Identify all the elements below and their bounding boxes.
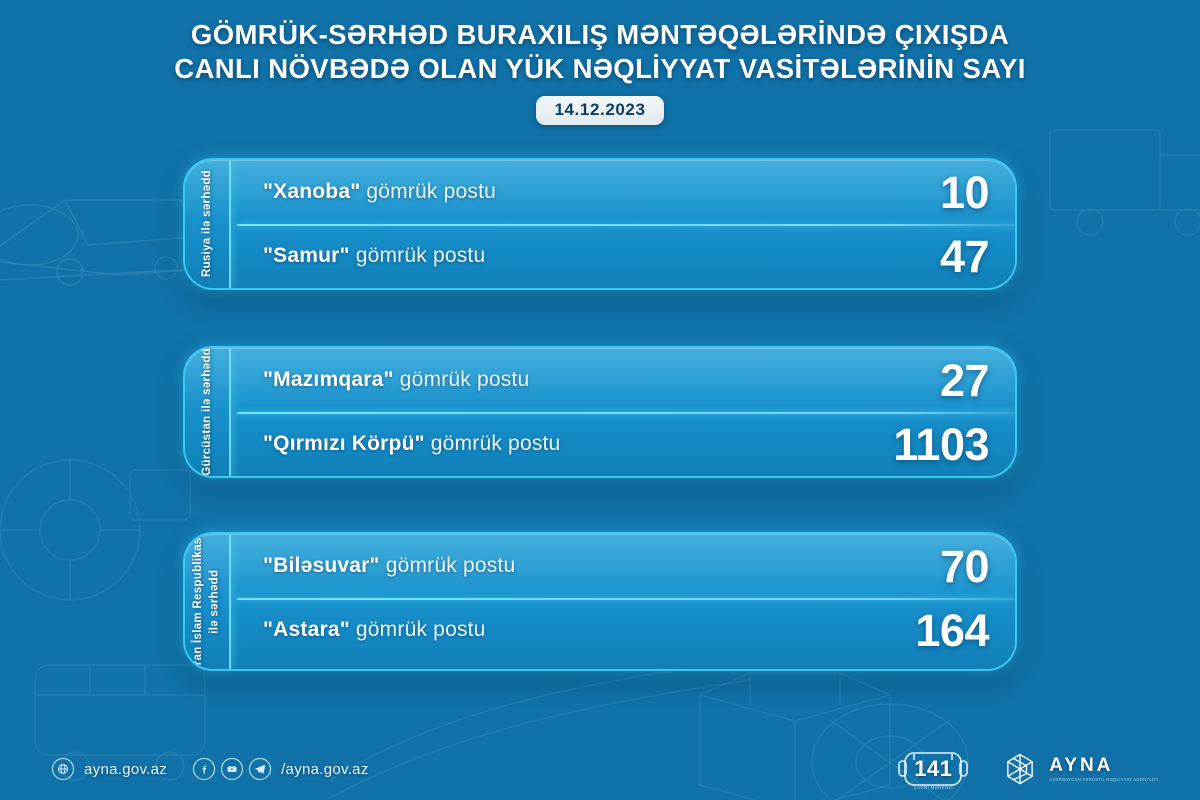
checkpoint-suffix: gömrük postu [360, 180, 496, 203]
globe-icon [52, 758, 74, 780]
date-wrapper: 14.12.2023 [0, 96, 1200, 125]
checkpoint-label: "Xanoba" gömrük postu [263, 180, 839, 204]
border-card-georgia: Gürcüstan ilə sərhədd "Mazımqara" gömrük… [185, 348, 1015, 476]
website-item[interactable]: ayna.gov.az [52, 758, 167, 780]
border-label-text: İran İslam Respublikası ilə sərhədd [190, 534, 223, 669]
title-line-1: GÖMRÜK-SƏRHƏD BURAXILIŞ MƏNTƏQƏLƏRİNDƏ Ç… [191, 19, 1009, 50]
social-item[interactable]: /ayna.gov.az [193, 758, 369, 780]
table-row: "Xanoba" gömrük postu 10 [231, 160, 1015, 224]
checkpoint-label: "Qırmızı Körpü" gömrük postu [263, 432, 839, 456]
footer-left: ayna.gov.az [0, 758, 369, 780]
checkpoint-rows-iran: "Biləsuvar" gömrük postu 70 "Astara" göm… [231, 534, 1015, 669]
card-list: Rusiya ilə sərhədd "Xanoba" gömrük postu… [0, 160, 1200, 731]
checkpoint-suffix: gömrük postu [350, 244, 486, 267]
checkpoint-value: 70 [839, 544, 989, 589]
checkpoint-name: "Astara" [263, 618, 350, 641]
checkpoint-label: "Mazımqara" gömrük postu [263, 368, 839, 392]
title-line-2: CANLI NÖVBƏDƏ OLAN YÜK NƏQLİYYAT VASİTƏL… [40, 52, 1160, 86]
telegram-icon[interactable] [249, 758, 271, 780]
table-row: "Biləsuvar" gömrük postu 70 [231, 534, 1015, 598]
border-label-iran: İran İslam Respublikası ilə sərhədd [185, 534, 231, 669]
ayna-wordmark: AYNA AZƏRBAYCAN YERÜSTÜ NƏQLİYYAT AGENTL… [1049, 756, 1158, 782]
checkpoint-rows-georgia: "Mazımqara" gömrük postu 27 "Qırmızı Kör… [231, 348, 1015, 476]
page-title: GÖMRÜK-SƏRHƏD BURAXILIŞ MƏNTƏQƏLƏRİNDƏ Ç… [0, 18, 1200, 85]
table-row: "Astara" gömrük postu 164 [231, 598, 1015, 662]
date-badge: 14.12.2023 [536, 96, 663, 125]
checkpoint-name: "Samur" [263, 244, 350, 267]
checkpoint-name: "Mazımqara" [263, 368, 394, 391]
checkpoint-suffix: gömrük postu [425, 432, 561, 455]
checkpoint-suffix: gömrük postu [350, 618, 486, 641]
youtube-icon[interactable] [221, 758, 243, 780]
ayna-subtitle: AZƏRBAYCAN YERÜSTÜ NƏQLİYYAT AGENTLİYİ [1049, 778, 1158, 782]
border-card-iran: İran İslam Respublikası ilə sərhədd "Bil… [185, 534, 1015, 669]
infographic-canvas: GÖMRÜK-SƏRHƏD BURAXILIŞ MƏNTƏQƏLƏRİNDƏ Ç… [0, 0, 1200, 800]
hotline-sub: ÇAĞRI MƏRKƏZİ [896, 785, 970, 790]
border-label-georgia: Gürcüstan ilə sərhədd [185, 348, 231, 476]
hotline-badge[interactable]: 141 ÇAĞRI MƏRKƏZİ [896, 749, 970, 789]
social-handle-label: /ayna.gov.az [281, 761, 369, 778]
checkpoint-suffix: gömrük postu [394, 368, 530, 391]
border-card-russia: Rusiya ilə sərhədd "Xanoba" gömrük postu… [185, 160, 1015, 288]
checkpoint-value: 10 [839, 170, 989, 215]
checkpoint-label: "Samur" gömrük postu [263, 244, 839, 268]
border-label-russia: Rusiya ilə sərhədd [185, 160, 231, 288]
footer: ayna.gov.az [0, 738, 1200, 800]
footer-right: 141 ÇAĞRI MƏRKƏZİ AYNA AZƏRBAYCAN YERÜST… [896, 749, 1200, 789]
website-label: ayna.gov.az [84, 761, 167, 778]
border-label-text: Gürcüstan ilə sərhədd [199, 348, 216, 476]
table-row: "Qırmızı Körpü" gömrük postu 1103 [231, 412, 1015, 476]
checkpoint-name: "Qırmızı Körpü" [263, 432, 425, 455]
checkpoint-name: "Biləsuvar" [263, 554, 380, 577]
checkpoint-suffix: gömrük postu [380, 554, 516, 577]
checkpoint-value: 1103 [839, 422, 989, 467]
checkpoint-name: "Xanoba" [263, 180, 360, 203]
table-row: "Mazımqara" gömrük postu 27 [231, 348, 1015, 412]
checkpoint-value: 27 [839, 358, 989, 403]
ayna-logo[interactable]: AYNA AZƏRBAYCAN YERÜSTÜ NƏQLİYYAT AGENTL… [1000, 752, 1158, 786]
ayna-mark-icon [1000, 752, 1040, 786]
social-icon-group [193, 758, 271, 780]
checkpoint-value: 47 [839, 234, 989, 279]
table-row: "Samur" gömrük postu 47 [231, 224, 1015, 288]
facebook-icon[interactable] [193, 758, 215, 780]
checkpoint-value: 164 [839, 608, 989, 653]
header: GÖMRÜK-SƏRHƏD BURAXILIŞ MƏNTƏQƏLƏRİNDƏ Ç… [0, 18, 1200, 125]
ayna-name: AYNA [1049, 756, 1158, 775]
checkpoint-label: "Biləsuvar" gömrük postu [263, 554, 839, 578]
checkpoint-label: "Astara" gömrük postu [263, 618, 839, 642]
border-label-text: Rusiya ilə sərhədd [199, 170, 216, 277]
checkpoint-rows-russia: "Xanoba" gömrük postu 10 "Samur" gömrük … [231, 160, 1015, 288]
